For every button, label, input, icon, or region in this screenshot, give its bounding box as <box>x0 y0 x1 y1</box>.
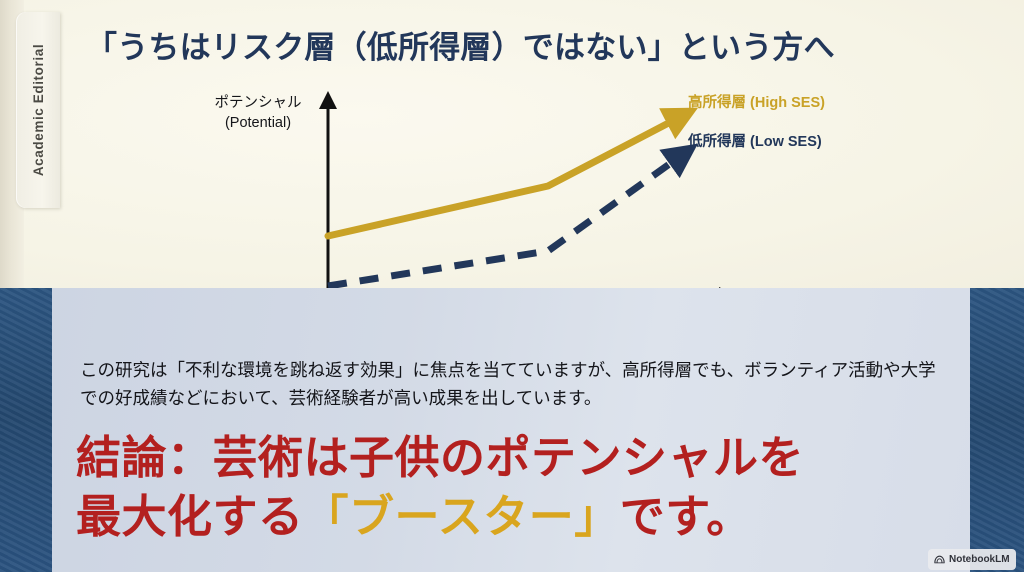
side-tab[interactable]: Academic Editorial <box>16 12 60 208</box>
conclusion-line-2: 最大化する「ブースター」です。 <box>76 487 976 546</box>
conclusion-line-1: 結論：芸術は子供のポテンシャルを <box>76 428 976 487</box>
left-navy-band <box>0 288 52 572</box>
chart-y-axis-label: ポテンシャル (Potential) <box>190 94 326 133</box>
side-tab-label: Academic Editorial <box>16 12 60 208</box>
y-axis-label-line2: (Potential) <box>190 114 326 134</box>
body-paragraph: この研究は「不利な環境を跳ね返す効果」に焦点を当てていますが、高所得層でも、ボラ… <box>80 356 940 413</box>
page-title: 「うちはリスク層（低所得層）ではない」という方へ <box>86 22 956 67</box>
conclusion-line2-highlight: 「ブースター」 <box>304 491 620 542</box>
y-axis-label-line1: ポテンシャル <box>215 95 302 111</box>
notebooklm-badge: NotebookLM <box>928 549 1016 570</box>
legend-item-low-ses: 低所得層 (Low SES) <box>688 135 825 150</box>
legend-item-high-ses: 高所得層 (High SES) <box>688 96 825 111</box>
conclusion-line2-prefix: 最大化する <box>76 491 304 542</box>
notebooklm-icon <box>934 554 945 565</box>
notebooklm-label: NotebookLM <box>949 554 1010 565</box>
chart-legend: 高所得層 (High SES) 低所得層 (Low SES) <box>688 96 825 149</box>
conclusion-line2-suffix: です。 <box>620 491 752 542</box>
top-cream-section: Academic Editorial 「うちはリスク層（低所得層）ではない」とい… <box>0 0 1024 288</box>
series-high-ses-line <box>328 116 682 236</box>
conclusion-text: 結論：芸術は子供のポテンシャルを 最大化する「ブースター」です。 <box>76 428 976 547</box>
right-navy-band <box>970 288 1024 572</box>
slide-canvas: Academic Editorial 「うちはリスク層（低所得層）ではない」とい… <box>0 0 1024 572</box>
